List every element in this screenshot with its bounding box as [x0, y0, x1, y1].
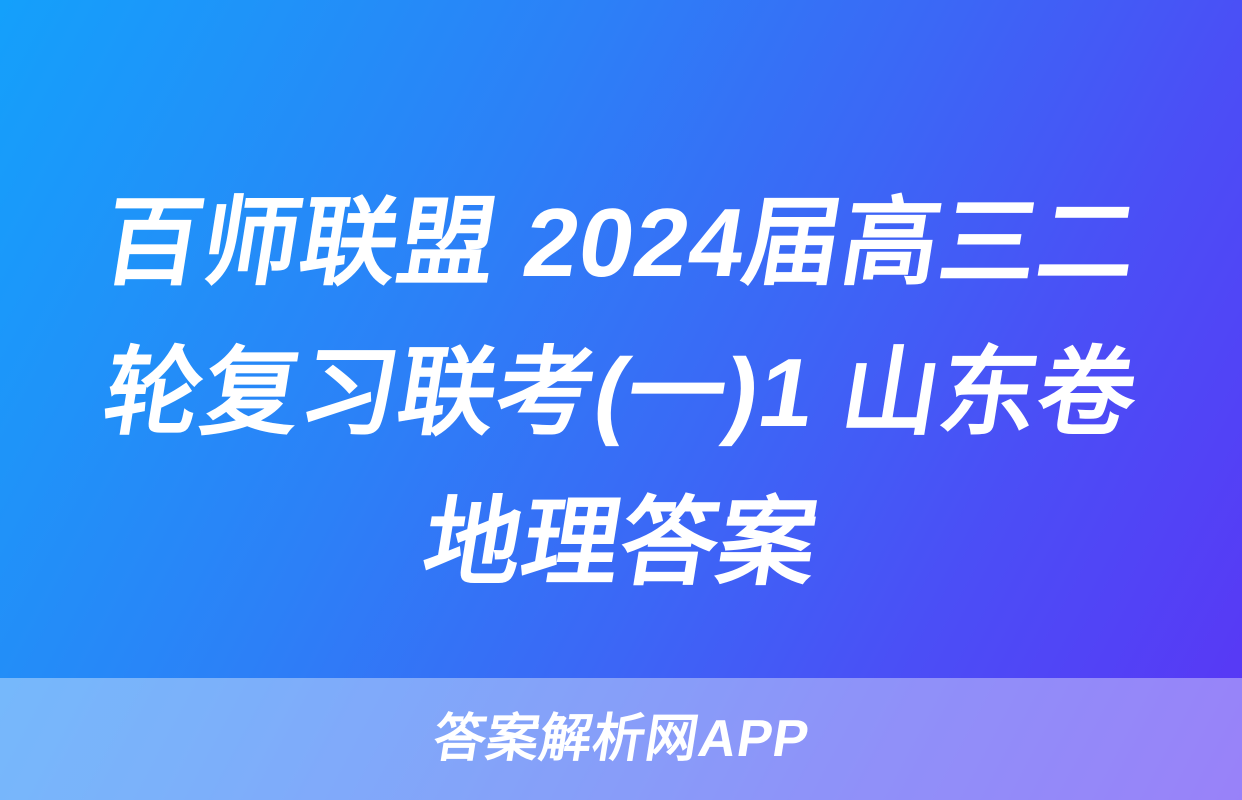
headline-line-2: 轮复习联考(一)1 山东卷: [28, 318, 1214, 468]
headline-line-1: 百师联盟 2024届高三二: [28, 168, 1214, 318]
headline-line-3: 地理答案: [28, 468, 1214, 618]
brand-watermark: 答案解析网APP: [429, 711, 813, 767]
headline-block: 百师联盟 2024届高三二 轮复习联考(一)1 山东卷 地理答案: [0, 168, 1242, 618]
promo-banner: 百师联盟 2024届高三二 轮复习联考(一)1 山东卷 地理答案 答案解析网AP…: [0, 0, 1242, 800]
footer-watermark-band: 答案解析网APP: [0, 678, 1242, 800]
